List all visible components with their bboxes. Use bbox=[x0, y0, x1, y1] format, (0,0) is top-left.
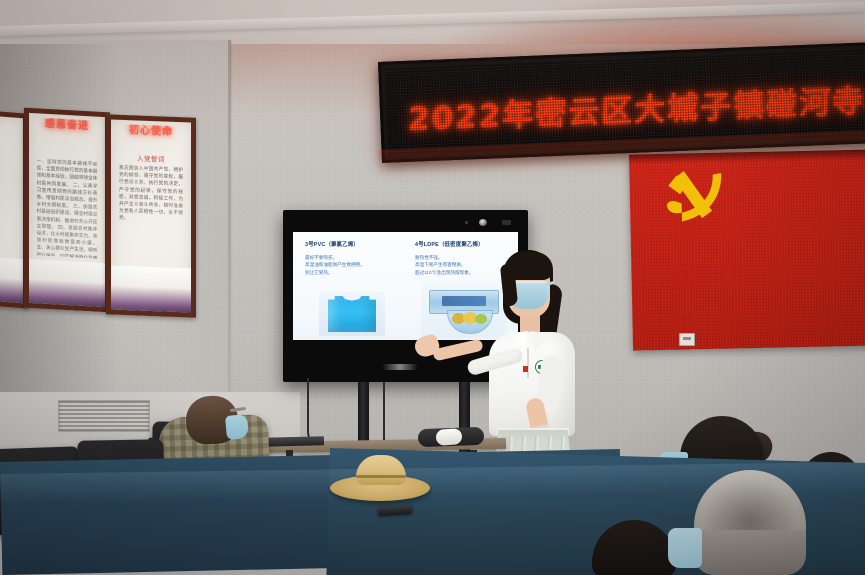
meeting-room-photo: 感恩奋进 一、坚持党的基本路线不动摇，全面贯彻执行党的基本纲领和基本经验，团结带… bbox=[0, 0, 865, 575]
straw-hat bbox=[330, 455, 430, 497]
led-scrolling-banner: 2022年密云区大城子镇碰河寺村新时 bbox=[378, 42, 865, 163]
wall-poster-frame-1: 感恩奋进 一、坚持党的基本路线不动摇，全面贯彻执行党的基本纲领和基本经验，团结带… bbox=[24, 108, 110, 313]
wall-power-socket bbox=[679, 333, 695, 346]
hammer-and-sickle-icon bbox=[659, 168, 732, 231]
camera-icon bbox=[479, 219, 487, 226]
slide-column-left: 3号PVC（聚氯乙烯） 最好不要购买。 高温油和油脂易产生致癌物。 别让它受热。 bbox=[305, 240, 403, 276]
hat-crown bbox=[356, 455, 406, 485]
poster-headline-2: 初心使命 bbox=[116, 124, 186, 153]
white-cloth-on-bench bbox=[435, 428, 462, 446]
cpc-party-flag bbox=[629, 149, 865, 350]
wall-poster-frame-2: 初心使命 入党誓词 我志愿加入中国共产党，拥护党的纲领，遵守党的章程，履行党员义… bbox=[106, 114, 196, 317]
poster-body-2: 我志愿加入中国共产党，拥护党的纲领，遵守党的章程，履行党员义务，执行党的决定，严… bbox=[119, 164, 183, 264]
poster-body-1: 一、坚持党的基本路线不动摇，全面贯彻执行党的基本纲领和基本经验，团结带领全体村民… bbox=[37, 157, 98, 258]
keyboard[interactable] bbox=[262, 436, 324, 447]
plastic-bag-image bbox=[319, 292, 385, 336]
wall-vent-icon bbox=[58, 400, 150, 432]
poster-footer-art-2 bbox=[111, 265, 191, 312]
poster-footer-art-0 bbox=[0, 257, 23, 303]
slide-body-pvc: 最好不要购买。 高温油和油脂易产生致癌物。 别让它受热。 bbox=[305, 254, 403, 276]
lapel-badge-icon bbox=[523, 366, 528, 372]
poster-title-2: 入党誓词 bbox=[111, 151, 191, 164]
poster-title-0 bbox=[0, 148, 23, 150]
plastic-bag-icon bbox=[328, 296, 376, 332]
ir-sensor-icon bbox=[502, 220, 511, 225]
status-led-icon bbox=[465, 221, 468, 224]
led-panel: 2022年密云区大城子镇碰河寺村新时 bbox=[384, 49, 865, 155]
poster-body-0 bbox=[0, 160, 20, 260]
display-brand-logo bbox=[382, 364, 418, 370]
hat-band bbox=[356, 475, 406, 478]
poster-headline-0 bbox=[0, 120, 21, 148]
slide-heading-pvc: 3号PVC（聚氯乙烯） bbox=[305, 240, 403, 248]
shirt-placket bbox=[527, 348, 529, 378]
led-banner-text: 2022年密云区大城子镇碰河寺村新时 bbox=[408, 71, 865, 138]
poster-headline-1: 感恩奋进 bbox=[34, 117, 101, 147]
face-mask bbox=[668, 528, 702, 568]
slide-heading-ldpe: 4号LDPE（低密度聚乙烯） bbox=[415, 240, 513, 248]
poster-footer-art-1 bbox=[29, 259, 105, 307]
